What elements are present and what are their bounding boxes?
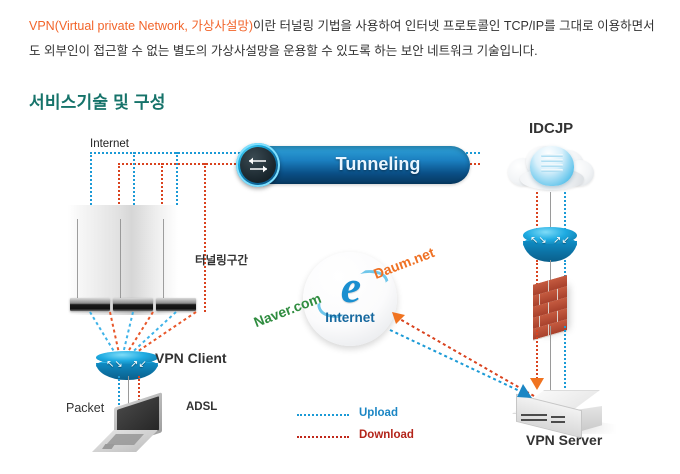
brick-seam: [557, 311, 558, 322]
firewall-server-download: [536, 330, 538, 382]
firewall-server-upload: [564, 326, 566, 392]
label-vpn-server: VPN Server: [526, 432, 602, 448]
arrows-glyph: [247, 155, 269, 175]
portal-label-daum: Daum.net: [371, 244, 436, 282]
bidirectional-arrows-icon[interactable]: [236, 143, 280, 187]
globe-server-paths: [386, 306, 536, 402]
label-vpn-client: VPN Client: [155, 350, 227, 366]
legend-label-download: Download: [359, 429, 414, 441]
legend-row-download: Download: [297, 427, 447, 449]
globe-caption: Internet: [303, 310, 397, 325]
legend-label-upload: Upload: [359, 407, 398, 419]
label-internet: Internet: [90, 138, 129, 150]
vpn-client-router-icon: ↖↘ ↗↙: [96, 352, 158, 380]
label-idcjp: IDCJP: [529, 120, 573, 137]
router-arrow-glyph: ↖↘: [106, 360, 123, 370]
brick-seam: [548, 280, 549, 291]
idc-cloud-icon: [508, 140, 596, 196]
intro-paragraph: VPN(Virtual private Network, 가상사설망)이란 터널…: [29, 14, 659, 64]
router-arrow-glyph: ↖↘: [530, 236, 547, 246]
intro-highlight: VPN(Virtual private Network, 가상사설망): [29, 19, 253, 33]
internet-explorer-e-icon: e: [325, 262, 377, 314]
brick-seam: [548, 302, 549, 313]
idc-router-icon: ↖↘ ↗↙: [523, 228, 577, 262]
router-arrow-glyph: ↗↙: [553, 236, 570, 246]
brick-seam: [557, 289, 558, 300]
tunnel-rib: [120, 219, 121, 301]
brick-seam: [539, 316, 540, 327]
server-vent-grille: [521, 408, 567, 424]
brick-seam: [539, 294, 540, 305]
network-diagram: Internet 터널링구간 ADSL ↖↘ ↗↙ VPN Client: [0, 110, 680, 474]
label-adsl: ADSL: [186, 401, 217, 413]
legend-row-upload: Upload: [297, 405, 447, 427]
firewall-server-solid: [550, 326, 551, 392]
tunnel-rib: [163, 219, 164, 301]
label-tunnel-zone: 터널링구간: [195, 252, 248, 268]
legend-swatch-upload: [297, 414, 349, 416]
legend: Upload Download: [297, 405, 447, 449]
server-stack-icon: [541, 154, 563, 176]
legend-swatch-download: [297, 436, 349, 438]
label-packet: Packet: [66, 401, 104, 415]
tunnel-rib: [77, 219, 78, 301]
tunneling-banner-label: Tunneling: [308, 154, 448, 175]
download-drop-3: [204, 163, 206, 312]
router-arrow-glyph: ↗↙: [130, 360, 147, 370]
